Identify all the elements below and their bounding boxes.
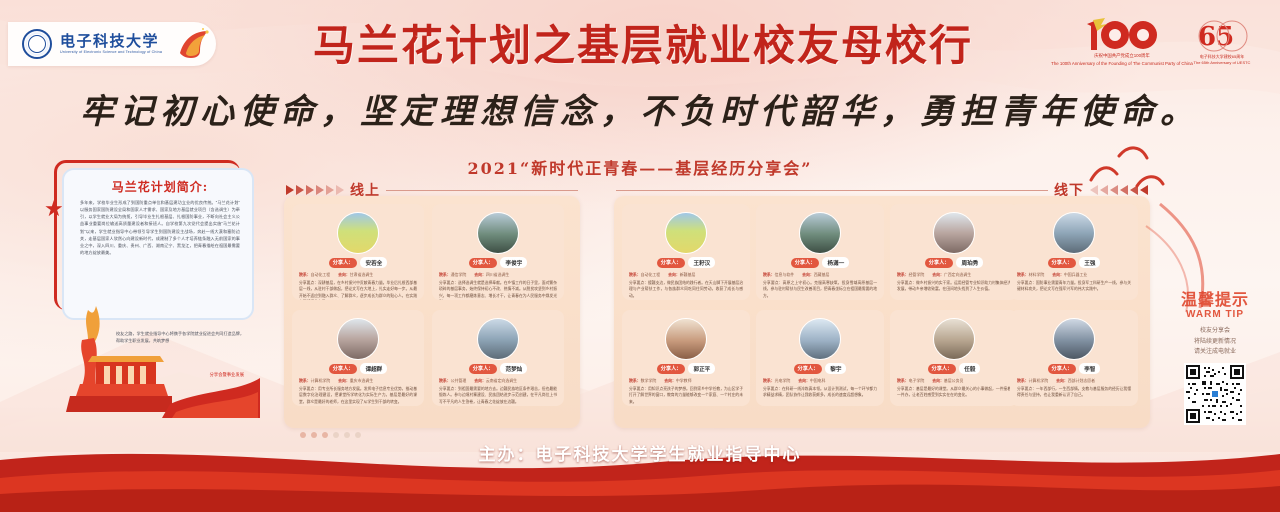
speaker-card[interactable]: 分享人：杨潇一院系：信息与软件去向：西藏基层分享要点：高原之上守初心。克服高寒缺… xyxy=(756,204,884,300)
speaker-label: 分享人： xyxy=(928,364,957,374)
speaker-name-row: 分享人：王强 xyxy=(1017,257,1131,268)
speaker-name-row: 分享人：王耔汉 xyxy=(629,257,743,268)
speaker-photo xyxy=(933,212,975,254)
speaker-name-row: 分享人：黎宇 xyxy=(763,363,877,374)
speaker-name: 安若全 xyxy=(360,257,387,268)
footer-organizer: 主办：电子科技大学学生就业指导中心 xyxy=(0,440,1280,465)
speaker-body-text: 分享要点：援疆支边，做民族团结的践行者。在天山脚下开展基层治理与产业帮扶工作，与… xyxy=(629,280,743,299)
speaker-photo xyxy=(933,318,975,360)
speaker-meta-item: 去向：新疆基层 xyxy=(668,272,695,278)
university-name-en: University of Electronic Science and Tec… xyxy=(60,51,162,55)
poster-root: 电子科技大学 University of Electronic Science … xyxy=(0,0,1280,512)
speaker-photo xyxy=(337,212,379,254)
cpc-100-caption-en: The 100th Anniversary of the Founding of… xyxy=(1051,61,1193,68)
speaker-photo xyxy=(477,212,519,254)
speaker-meta-row: 院系：自动化工程去向：新疆基层 xyxy=(629,272,743,278)
speaker-meta-item: 去向：基层公务员 xyxy=(932,378,963,384)
speaker-body-text: 分享要点：用知识点亮孩子的梦想。回到家乡中学任教，为山区学子打开了解世界的窗口，… xyxy=(629,386,743,405)
speaker-meta-row: 院系：经管学院去向：广西定向选调生 xyxy=(897,272,1011,278)
speaker-card[interactable]: 分享人：谭超群院系：计算机学院去向：重庆市选调生分享要点：用专业所长服务地方发展… xyxy=(292,310,424,406)
speaker-meta-item: 去向：云南省定向选调生 xyxy=(474,378,517,384)
speaker-name-row: 分享人：任毅 xyxy=(897,363,1011,374)
speaker-name-row: 分享人：李智 xyxy=(1017,363,1131,374)
speaker-label: 分享人： xyxy=(1048,258,1077,268)
speaker-photo xyxy=(665,318,707,360)
section-rule-online xyxy=(386,190,578,191)
speaker-card[interactable]: 分享人：黎宇院系：光电学院去向：中国电科分享要点：在科研一线淬炼真本领。从设计到… xyxy=(756,310,884,406)
anniv-65-caption-en: The 65th Anniversary of UESTC xyxy=(1194,60,1251,66)
speaker-label: 分享人： xyxy=(1048,364,1077,374)
speaker-meta-item: 院系：信息与软件 xyxy=(763,272,794,278)
speaker-meta-item: 去向：西部计划志愿者 xyxy=(1056,378,1095,384)
speaker-name-row: 分享人：周珀秀 xyxy=(897,257,1011,268)
speaker-name: 周珀秀 xyxy=(956,257,983,268)
speaker-name-row: 分享人：范梦灿 xyxy=(439,363,557,374)
speaker-meta-item: 去向：中学教师 xyxy=(664,378,691,384)
speaker-body-text: 分享要点：国防事业需要青年力量。投身军工科研生产一线，参与关键材料攻关，把论文写… xyxy=(1017,280,1131,293)
speaker-label: 分享人： xyxy=(329,258,358,268)
speaker-meta-item: 去向：广西定向选调生 xyxy=(932,272,971,278)
ribbon-decoration xyxy=(1140,196,1250,316)
speaker-photo xyxy=(337,318,379,360)
speaker-label: 分享人： xyxy=(657,258,686,268)
speaker-meta-item: 去向：四川省选调生 xyxy=(474,272,509,278)
program-intro-body: 多年来，学校毕业生形成了到国防重点单位和基层建功立业的优良传统。“马兰花计划”以… xyxy=(80,199,240,256)
cpc-100th-anniversary-logo: 庆祝中国共产党成立100周年 The 100th Anniversary of … xyxy=(1076,18,1168,76)
speaker-meta-item: 去向：中国兵器工业 xyxy=(1052,272,1087,278)
speaker-name-row: 分享人：郭正平 xyxy=(629,363,743,374)
speaker-card[interactable]: 分享人：安若全院系：自动化工程去向：甘肃省选调生分享要点：深耕基层，在乡村振兴中… xyxy=(292,204,424,300)
warm-tip-lines: 校友分享会 将陆续更新情况 请关注成电就业 xyxy=(1162,326,1268,358)
speaker-body-text: 分享要点：深耕基层，在乡村振兴中贡献青春力量。毕业后扎根西部基层一线，从驻村干部… xyxy=(299,280,417,300)
speaker-meta-item: 去向：中国电科 xyxy=(798,378,825,384)
warm-tip-line-2: 将陆续更新情况 xyxy=(1162,337,1268,348)
speaker-meta-row: 院系：材料学院去向：中国兵器工业 xyxy=(1017,272,1131,278)
speaker-meta-row: 院系：自动化工程去向：甘肃省选调生 xyxy=(299,272,417,278)
speaker-body-text: 分享要点：选择选调生就是选择奉献。在乡镇工作的日子里，面对繁杂琐碎的基层事务，始… xyxy=(439,280,557,300)
speaker-meta-row: 院系：计算机学院去向：重庆市选调生 xyxy=(299,378,417,384)
speaker-name: 黎宇 xyxy=(825,363,846,374)
speaker-meta-item: 院系：光电学院 xyxy=(763,378,790,384)
speaker-name: 李智 xyxy=(1079,363,1100,374)
speaker-meta-row: 院系：电子学院去向：基层公务员 xyxy=(897,378,1011,384)
speaker-meta-item: 院系：数学学院 xyxy=(629,378,656,384)
speaker-name-row: 分享人：李俊宇 xyxy=(439,257,557,268)
speaker-photo xyxy=(1053,318,1095,360)
speaker-photo xyxy=(477,318,519,360)
uestc-65th-anniversary-logo: 65 电子科技大学建校65周年 The 65th Anniversary of … xyxy=(1178,18,1266,76)
speaker-photo xyxy=(799,318,841,360)
speaker-body-text: 分享要点：基层是最好的课堂。从群众最关心的小事做起，一件接着一件办，让老百姓感受… xyxy=(897,386,1011,399)
speaker-card[interactable]: 分享人：任毅院系：电子学院去向：基层公务员分享要点：基层是最好的课堂。从群众最关… xyxy=(890,310,1018,406)
speaker-card[interactable]: 分享人：李俊宇院系：通信学院去向：四川省选调生分享要点：选择选调生就是选择奉献。… xyxy=(432,204,564,300)
speaker-card[interactable]: 分享人：李智院系：计算机学院去向：西部计划志愿者分享要点：一年西部行，一生西部情… xyxy=(1010,310,1138,406)
speaker-meta-row: 院系：计算机学院去向：西部计划志愿者 xyxy=(1017,378,1131,384)
university-name-cn: 电子科技大学 xyxy=(60,34,162,49)
speaker-meta-item: 院系：计算机学院 xyxy=(299,378,330,384)
malanhua-plan-logo xyxy=(174,27,214,61)
speaker-meta-item: 院系：公共管理 xyxy=(439,378,466,384)
speaker-meta-item: 去向：甘肃省选调生 xyxy=(338,272,373,278)
speaker-body-text: 分享要点：在科研一线淬炼真本领。从设计到测试，每一个环节都力求精益求精，团队协作… xyxy=(763,386,877,399)
speaker-meta-item: 去向：重庆市选调生 xyxy=(338,378,373,384)
speaker-name: 任毅 xyxy=(959,363,980,374)
speaker-label: 分享人： xyxy=(794,364,823,374)
speaker-meta-row: 院系：通信学院去向：四川省选调生 xyxy=(439,272,557,278)
speaker-body-text: 分享要点：做乡村振兴的实干家。运用经管专业知识助力村集体经济发展，带动乡亲增收致… xyxy=(897,280,1011,293)
speaker-meta-item: 院系：通信学院 xyxy=(439,272,466,278)
uestc-seal-icon xyxy=(22,29,52,59)
speaker-name: 谭超群 xyxy=(360,363,387,374)
torch-monument-decoration xyxy=(52,300,262,420)
speaker-meta-row: 院系：信息与软件去向：西藏基层 xyxy=(763,272,877,278)
speaker-label: 分享人： xyxy=(469,364,498,374)
page-title: 马兰花计划之基层就业校友母校行 xyxy=(228,22,1058,70)
speaker-meta-row: 院系：数学学院去向：中学教师 xyxy=(629,378,743,384)
slogan-subtitle: 牢记初心使命，坚定理想信念，不负时代韶华，勇担青年使命。 xyxy=(50,92,1230,132)
speaker-meta-row: 院系：公共管理去向：云南省定向选调生 xyxy=(439,378,557,384)
speaker-name-row: 分享人：安若全 xyxy=(299,257,417,268)
qr-code-image xyxy=(1186,365,1244,423)
speaker-body-text: 分享要点：高原之上守初心。克服高寒缺氧，投身雪域高原基层一线，参与驻村帮扶与民生… xyxy=(763,280,877,299)
speaker-label: 分享人： xyxy=(791,258,820,268)
cpc-100-caption-cn: 庆祝中国共产党成立100周年 xyxy=(1094,53,1150,60)
speaker-card[interactable]: 分享人：范梦灿院系：公共管理去向：云南省定向选调生分享要点：到祖国最需要的地方去… xyxy=(432,310,564,406)
speaker-body-text: 分享要点：到祖国最需要的地方去。边疆民族地区条件艰苦，但也最能锻炼人。参与边境村… xyxy=(439,386,557,405)
qr-code[interactable] xyxy=(1184,363,1246,425)
speaker-name: 范梦灿 xyxy=(500,363,527,374)
speaker-label: 分享人： xyxy=(925,258,954,268)
speaker-name-row: 分享人：谭超群 xyxy=(299,363,417,374)
speaker-name: 郭正平 xyxy=(688,363,715,374)
speaker-photo xyxy=(1053,212,1095,254)
speaker-meta-item: 院系：电子学院 xyxy=(897,378,924,384)
speaker-card[interactable]: 分享人：郭正平院系：数学学院去向：中学教师分享要点：用知识点亮孩子的梦想。回到家… xyxy=(622,310,750,406)
speaker-name-row: 分享人：杨潇一 xyxy=(763,257,877,268)
cpc-100-emblem-icon xyxy=(1083,18,1161,52)
section-rule-offline xyxy=(616,190,1048,191)
speaker-photo xyxy=(665,212,707,254)
star-icon-large: ★ xyxy=(44,196,64,222)
speaker-card[interactable]: 分享人：周珀秀院系：经管学院去向：广西定向选调生分享要点：做乡村振兴的实干家。运… xyxy=(890,204,1018,300)
speaker-name: 李俊宇 xyxy=(500,257,527,268)
arrow-right-group-icon xyxy=(286,185,344,195)
speaker-body-text: 分享要点：用专业所长服务地方发展。发挥电子信息专业优势，推动基层数字化治理建设，… xyxy=(299,386,417,405)
university-logo-pill: 电子科技大学 University of Electronic Science … xyxy=(8,22,216,66)
program-intro-panel: 马兰花计划简介: 多年来，学校毕业生形成了到国防重点单位和基层建功立业的优良传统… xyxy=(62,168,254,320)
speaker-meta-item: 院系：自动化工程 xyxy=(629,272,660,278)
speaker-meta-item: 去向：西藏基层 xyxy=(802,272,829,278)
program-intro-heading: 马兰花计划简介: xyxy=(80,178,240,195)
speaker-card[interactable]: 分享人：王强院系：材料学院去向：中国兵器工业分享要点：国防事业需要青年力量。投身… xyxy=(1010,204,1138,300)
speaker-meta-row: 院系：光电学院去向：中国电科 xyxy=(763,378,877,384)
speaker-name: 杨潇一 xyxy=(822,257,849,268)
warm-tip-line-1: 校友分享会 xyxy=(1162,326,1268,337)
speaker-meta-item: 院系：经管学院 xyxy=(897,272,924,278)
warm-tip-line-3: 请关注成电就业 xyxy=(1162,347,1268,358)
speaker-name: 王强 xyxy=(1079,257,1100,268)
speaker-card[interactable]: 分享人：王耔汉院系：自动化工程去向：新疆基层分享要点：援疆支边，做民族团结的践行… xyxy=(622,204,750,300)
anniv-65-emblem-icon: 65 xyxy=(1194,18,1250,54)
speaker-meta-item: 院系：计算机学院 xyxy=(1017,378,1048,384)
speaker-body-text: 分享要点：一年西部行，一生西部情。支教与基层服务的经历让我懂得责任与坚持，也让我… xyxy=(1017,386,1131,399)
speaker-name: 王耔汉 xyxy=(688,257,715,268)
speaker-meta-item: 院系：自动化工程 xyxy=(299,272,330,278)
speaker-photo xyxy=(799,212,841,254)
uestc-wordmark: 电子科技大学 University of Electronic Science … xyxy=(60,34,162,55)
speaker-label: 分享人： xyxy=(329,364,358,374)
speaker-label: 分享人： xyxy=(657,364,686,374)
speaker-label: 分享人： xyxy=(469,258,498,268)
speaker-meta-item: 院系：材料学院 xyxy=(1017,272,1044,278)
